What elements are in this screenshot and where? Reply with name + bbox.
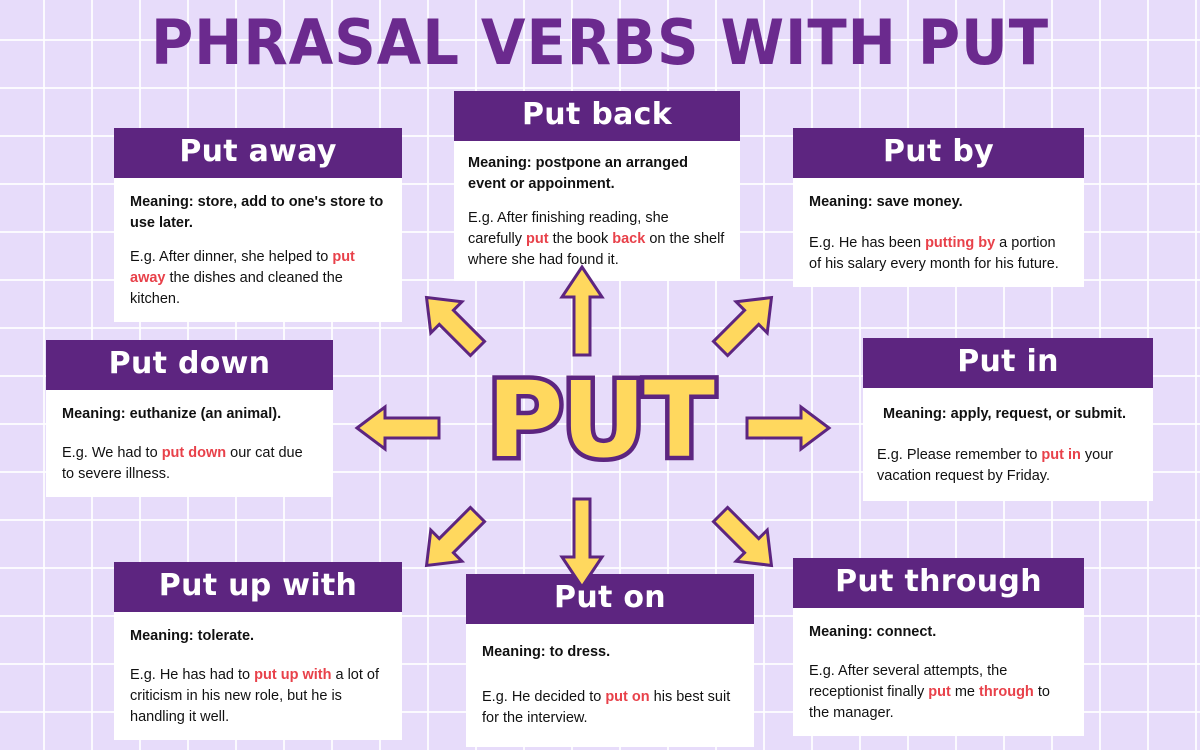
example-put-up-with: E.g. He has had to put up with a lot of … [130,665,386,728]
meaning-put-by: Meaning: save money. [809,192,1068,213]
card-put-away: Put away Meaning: store, add to one's st… [114,128,402,322]
card-put-on: Put on Meaning: to dress. E.g. He decide… [466,574,754,747]
card-title-put-away: Put away [114,128,402,178]
card-title-put-up-with: Put up with [114,562,402,612]
arrow-up-right-icon [706,283,786,363]
meaning-put-back: Meaning: postpone an arranged event or a… [468,153,726,194]
meaning-put-away: Meaning: store, add to one's store to us… [130,192,386,233]
card-body-put-by: Meaning: save money. E.g. He has been pu… [793,178,1084,287]
card-put-up-with: Put up with Meaning: tolerate. E.g. He h… [114,562,402,740]
card-title-put-by: Put by [793,128,1084,178]
card-put-by: Put by Meaning: save money. E.g. He has … [793,128,1084,287]
meaning-put-up-with: Meaning: tolerate. [130,626,386,647]
example-put-away: E.g. After dinner, she helped to put awa… [130,247,386,310]
example-put-on: E.g. He decided to put on his best suit … [482,687,738,729]
card-body-put-back: Meaning: postpone an arranged event or a… [454,141,740,281]
arrow-down-right-icon [706,500,786,580]
meaning-put-through: Meaning: connect. [809,622,1068,643]
example-put-by: E.g. He has been putting by a portion of… [809,233,1068,275]
card-title-put-through: Put through [793,558,1084,608]
card-body-put-on: Meaning: to dress. E.g. He decided to pu… [466,624,754,747]
infographic-canvas: PHRASAL VERBS WITH PUT Put away Meaning:… [0,0,1200,750]
card-put-through: Put through Meaning: connect. E.g. After… [793,558,1084,736]
card-body-put-away: Meaning: store, add to one's store to us… [114,178,402,322]
example-put-through: E.g. After several attempts, the recepti… [809,661,1068,724]
example-put-back: E.g. After finishing reading, she carefu… [468,208,726,271]
arrow-up-icon [560,265,604,357]
card-title-put-on: Put on [466,574,754,624]
arrow-up-left-icon [412,283,492,363]
arrow-down-left-icon [412,500,492,580]
card-title-put-back: Put back [454,91,740,141]
card-put-back: Put back Meaning: postpone an arranged e… [454,91,740,281]
card-body-put-through: Meaning: connect. E.g. After several att… [793,608,1084,736]
page-title: PHRASAL VERBS WITH PUT [42,6,1158,79]
card-body-put-up-with: Meaning: tolerate. E.g. He has had to pu… [114,612,402,740]
center-put-label: PUT [0,368,1200,472]
arrow-down-icon [560,497,604,589]
meaning-put-on: Meaning: to dress. [482,642,738,663]
